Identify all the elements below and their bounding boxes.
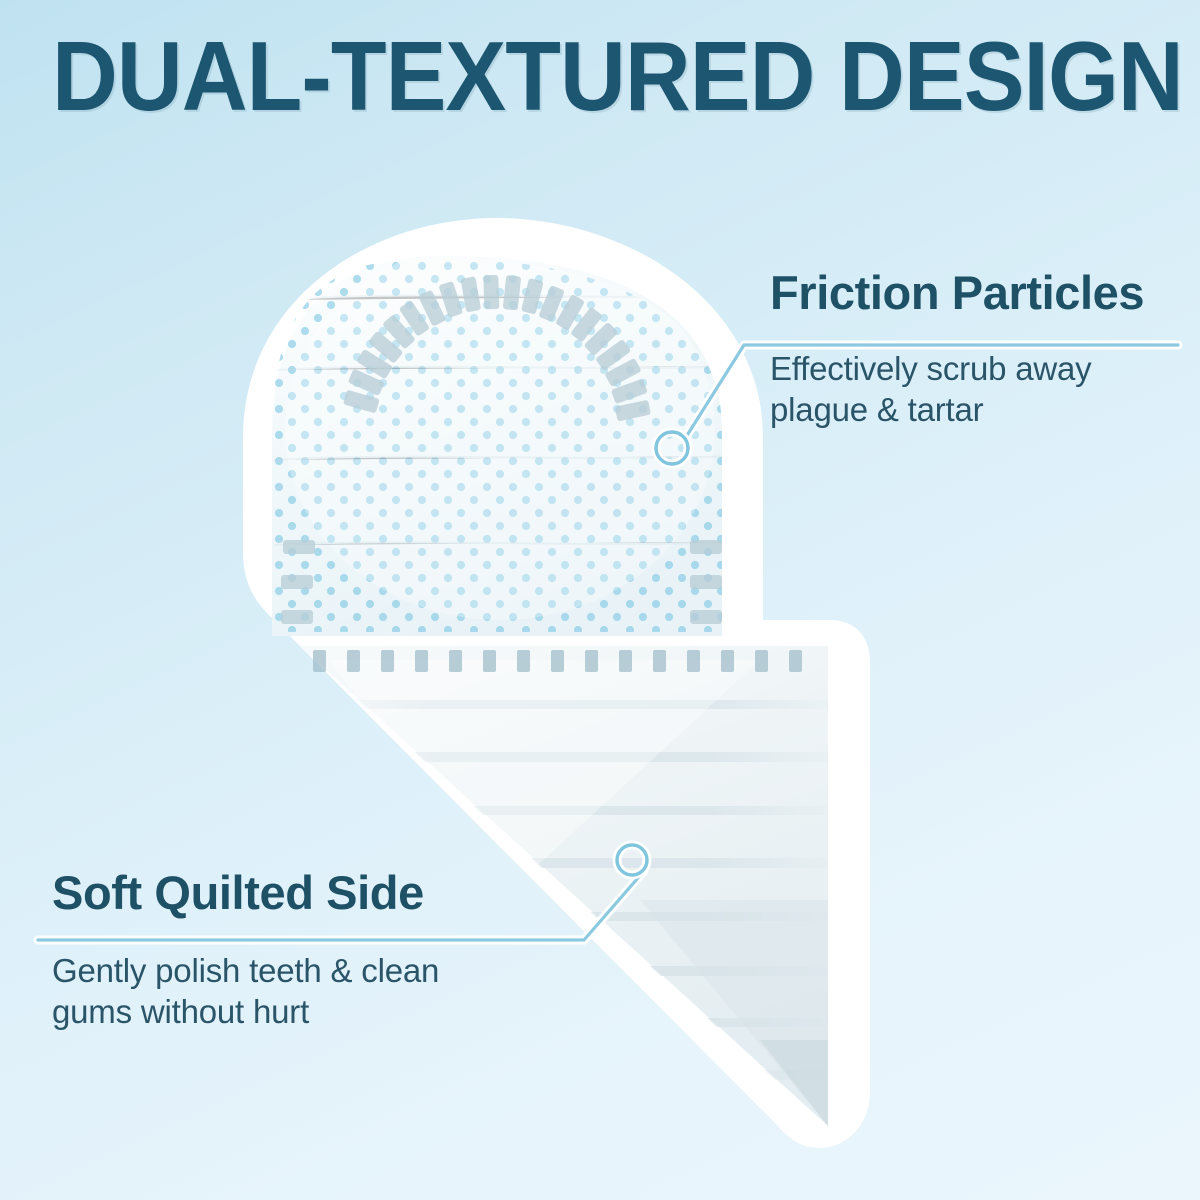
ring-marker-soft-quilted-side — [617, 845, 647, 875]
callout-body-friction-particles: Effectively scrub away plague & tartar — [770, 349, 1144, 430]
page-title: DUAL-TEXTURED DESIGN — [52, 27, 1183, 125]
callout-title-soft-quilted-side: Soft Quilted Side — [52, 868, 439, 917]
callout-line-1: Effectively scrub away — [770, 349, 1144, 389]
friction-pad-dome — [250, 240, 750, 650]
callout-title-friction-particles: Friction Particles — [770, 268, 1144, 317]
callout-line-2: plague & tartar — [770, 390, 1144, 430]
perimeter-dash-marks — [281, 275, 722, 624]
flap-edge-dash-marks — [313, 650, 802, 672]
ring-marker-friction-particles — [656, 432, 688, 464]
infographic-canvas: DUAL-TEXTURED DESIGN — [0, 0, 1200, 1200]
callout-friction-particles: Friction Particles Effectively scrub awa… — [770, 268, 1144, 430]
callout-line-2: gums without hurt — [52, 992, 439, 1032]
callout-line-1: Gently polish teeth & clean — [52, 951, 439, 991]
callout-body-soft-quilted-side: Gently polish teeth & clean gums without… — [52, 951, 439, 1032]
callout-soft-quilted-side: Soft Quilted Side Gently polish teeth & … — [52, 868, 439, 1032]
